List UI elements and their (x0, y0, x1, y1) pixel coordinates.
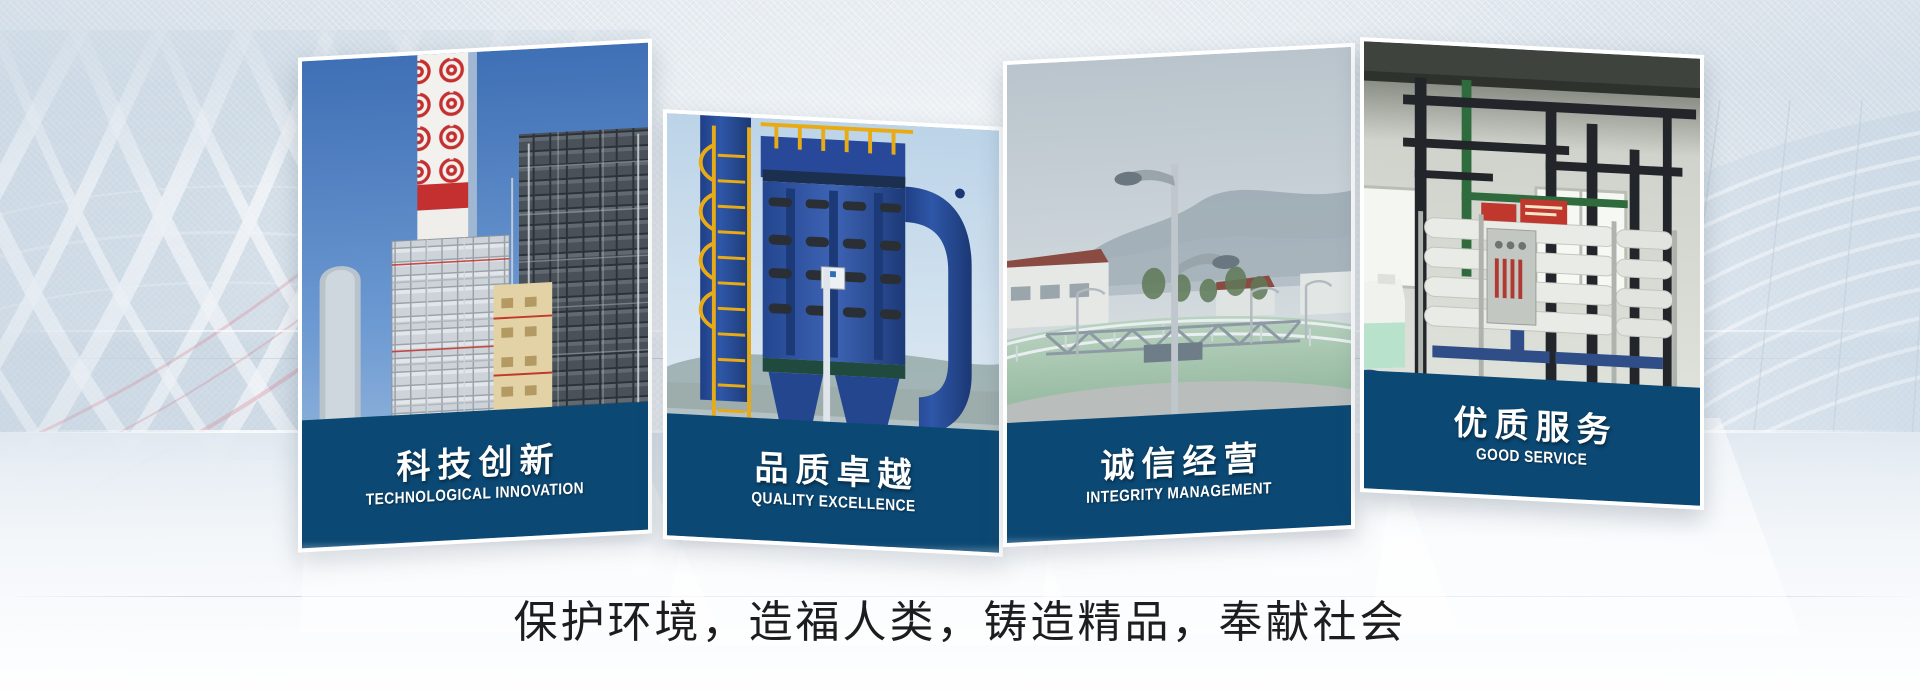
feature-card-good-service[interactable]: 优质服务 GOOD SERVICE (1360, 37, 1704, 510)
card-title-en-4: GOOD SERVICE (1476, 446, 1587, 471)
card-caption-4: 优质服务 GOOD SERVICE (1364, 370, 1700, 506)
card-caption-3: 诚信经营 INTEGRITY MANAGEMENT (1007, 405, 1351, 543)
card-title-zh-3: 诚信经营 (1094, 440, 1265, 487)
card-title-zh-1: 科技创新 (390, 441, 561, 488)
banner-stage: 科技创新 TECHNOLOGICAL INNOVATION (0, 0, 1920, 700)
card-caption-2: 品质卓越 QUALITY EXCELLENCE (667, 413, 999, 552)
card-reflection-3 (1005, 540, 1355, 584)
feature-card-technological-innovation[interactable]: 科技创新 TECHNOLOGICAL INNOVATION (298, 38, 652, 552)
card-title-zh-2: 品质卓越 (748, 449, 919, 496)
card-title-zh-4: 优质服务 (1447, 404, 1618, 451)
card-reflection-4 (1362, 536, 1704, 580)
card-reflection-1 (300, 545, 652, 589)
banner-tagline: 保护环境，造福人类，铸造精品，奉献社会 (0, 586, 1920, 650)
feature-card-quality-excellence[interactable]: 品质卓越 QUALITY EXCELLENCE (663, 109, 1003, 557)
feature-card-integrity-management[interactable]: 诚信经营 INTEGRITY MANAGEMENT (1003, 43, 1355, 547)
card-caption-1: 科技创新 TECHNOLOGICAL INNOVATION (302, 402, 648, 549)
